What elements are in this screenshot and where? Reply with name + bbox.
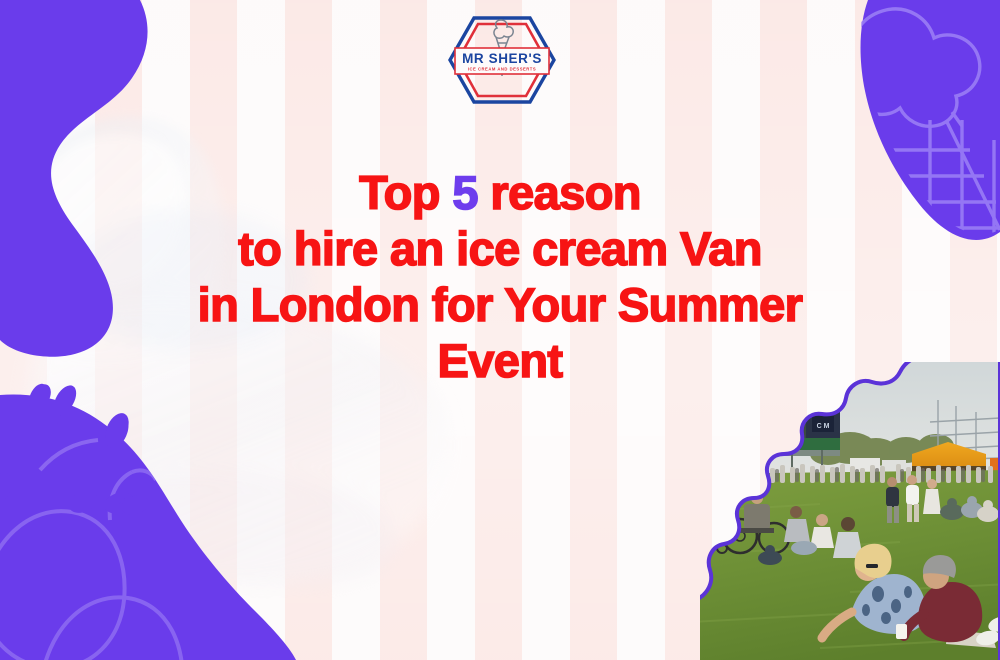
headline-line-3: in London for Your Summer xyxy=(50,277,950,333)
logo-name: MR SHER'S xyxy=(462,51,542,66)
headline-text: Top 5 reason to hire an ice cream Van in… xyxy=(50,165,950,389)
headline-line-2: to hire an ice cream Van xyxy=(50,221,950,277)
event-photograph: C M xyxy=(700,362,1000,660)
headline-line-1: Top 5 reason xyxy=(50,165,950,221)
mr-shers-logo[interactable]: MR SHER'S ICE CREAM AND DESSERTS xyxy=(447,14,557,106)
logo-tagline: ICE CREAM AND DESSERTS xyxy=(468,67,536,72)
headline-line-1-pre: Top xyxy=(359,166,452,219)
headline-line-1-post: reason xyxy=(478,166,641,219)
svg-text:C M: C M xyxy=(817,423,830,430)
headline-number-accent: 5 xyxy=(452,166,478,219)
event-photo-inset: C M xyxy=(700,362,1000,660)
promo-banner: MR SHER'S ICE CREAM AND DESSERTS Top 5 r… xyxy=(0,0,1000,660)
